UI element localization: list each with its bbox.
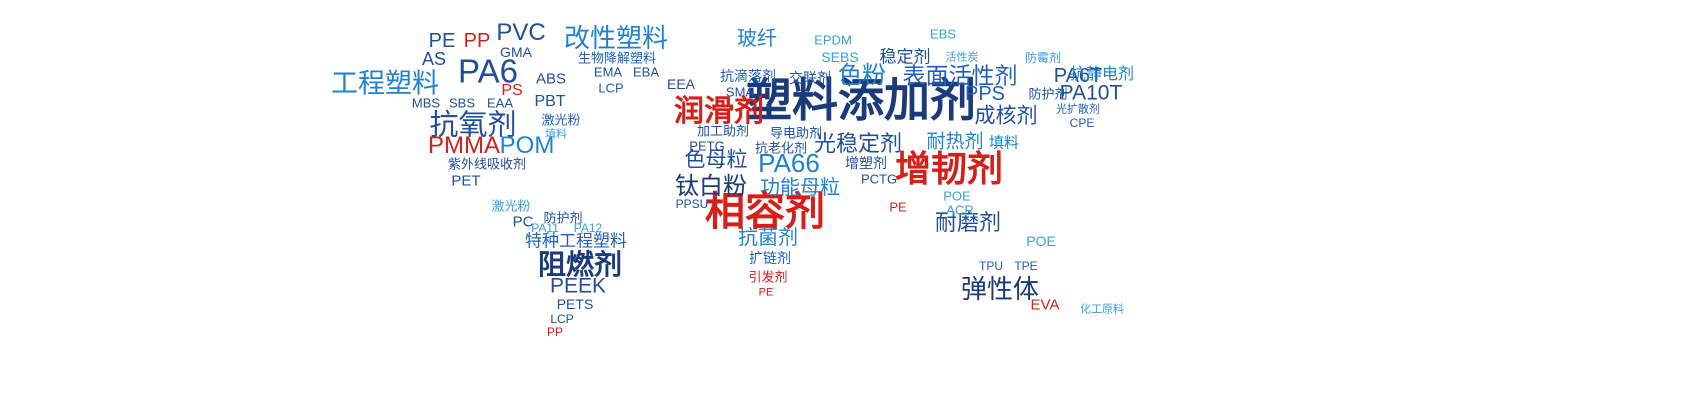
cloud-word[interactable]: POE	[1026, 234, 1056, 248]
cloud-word[interactable]: ABS	[536, 72, 566, 87]
cloud-word[interactable]: 填料	[545, 130, 567, 141]
cloud-word[interactable]: EBA	[633, 66, 659, 79]
cloud-word[interactable]: MBS	[412, 97, 440, 110]
cloud-word[interactable]: 成核剂	[975, 106, 1038, 127]
cloud-word[interactable]: PETS	[557, 297, 594, 311]
cloud-word[interactable]: PE	[889, 201, 906, 214]
cloud-word[interactable]: AS	[422, 50, 446, 68]
cloud-word[interactable]: ACR	[946, 204, 973, 217]
cloud-word[interactable]: 激光粉	[491, 200, 530, 213]
cloud-word[interactable]: PE	[759, 288, 774, 299]
cloud-word[interactable]: 紫外线吸收剂	[448, 158, 526, 171]
cloud-word[interactable]: 交联剂	[789, 71, 831, 85]
cloud-word[interactable]: 光稳定剂	[814, 133, 902, 155]
cloud-word[interactable]: 钛白粉	[675, 175, 747, 199]
cloud-word[interactable]: LCP	[550, 313, 573, 325]
cloud-word[interactable]: SEBS	[821, 50, 858, 64]
cloud-word[interactable]: EAA	[487, 97, 513, 110]
cloud-word[interactable]: PET	[451, 174, 480, 189]
cloud-word[interactable]: SBS	[449, 97, 475, 110]
cloud-word[interactable]: 改性塑料	[564, 25, 668, 51]
cloud-word[interactable]: PCTG	[861, 173, 897, 186]
cloud-word[interactable]: 特种工程塑料	[525, 233, 627, 250]
cloud-word[interactable]: 化工原料	[1080, 305, 1124, 316]
cloud-word[interactable]: 功能母粒	[760, 178, 840, 198]
cloud-word[interactable]: PA12	[574, 222, 602, 234]
cloud-word[interactable]: POE	[943, 190, 970, 203]
cloud-word[interactable]: LCP	[598, 82, 623, 95]
cloud-word[interactable]: TPE	[1014, 260, 1037, 272]
word-cloud-canvas: 塑料添加剂相容剂增韧剂润滑剂阻燃剂工程塑料抗氧剂PA6改性塑料表面活性剂光稳定剂…	[0, 0, 1707, 400]
cloud-word[interactable]: 抗菌剂	[738, 228, 798, 248]
cloud-word[interactable]: PVC	[496, 21, 545, 45]
cloud-word[interactable]: PPS	[965, 84, 1005, 104]
cloud-word[interactable]: 引发剂	[748, 271, 787, 284]
cloud-word[interactable]: PPSU	[676, 198, 709, 210]
cloud-word[interactable]: GMA	[500, 45, 532, 59]
cloud-word[interactable]: PP	[464, 31, 491, 51]
cloud-word[interactable]: 光扩散剂	[1056, 105, 1100, 116]
cloud-word[interactable]: 增塑剂	[845, 156, 887, 170]
cloud-word[interactable]: PBT	[534, 94, 565, 110]
cloud-word[interactable]: EBS	[930, 28, 956, 41]
cloud-word[interactable]: 工程塑料	[331, 71, 439, 98]
cloud-word[interactable]: 抗老化剂	[755, 142, 807, 155]
cloud-word[interactable]: 激光粉	[541, 114, 580, 127]
cloud-word[interactable]: 增韧剂	[895, 151, 1003, 187]
cloud-word[interactable]: 加工助剂	[697, 125, 749, 138]
cloud-word[interactable]: PP	[547, 326, 563, 338]
cloud-word[interactable]: 生物降解塑料	[578, 52, 656, 65]
cloud-word[interactable]: EPDM	[814, 34, 852, 47]
cloud-word[interactable]: 抗静电剂	[1070, 67, 1134, 83]
cloud-word[interactable]: PEEK	[550, 276, 606, 297]
cloud-word[interactable]: 弹性体	[961, 276, 1039, 302]
cloud-word[interactable]: PMMA	[428, 134, 500, 158]
cloud-word[interactable]: PA11	[531, 222, 559, 234]
cloud-word[interactable]: 防霉剂	[1025, 52, 1061, 64]
cloud-word[interactable]: 抗滴落剂	[720, 69, 776, 83]
cloud-word[interactable]: 防护剂	[1028, 88, 1067, 101]
cloud-word[interactable]: 润滑剂	[674, 97, 764, 127]
cloud-word[interactable]: 耐热剂	[926, 133, 983, 152]
cloud-word[interactable]: 扩链剂	[749, 251, 791, 265]
cloud-word[interactable]: SMA	[726, 86, 754, 99]
cloud-word[interactable]: PETG	[689, 140, 724, 153]
cloud-word[interactable]: 稳定剂	[880, 49, 931, 66]
cloud-word[interactable]: CPE	[1070, 117, 1095, 129]
cloud-word[interactable]: PE	[429, 31, 456, 51]
cloud-word[interactable]: 玻纤	[737, 29, 777, 49]
cloud-word[interactable]: EMA	[594, 66, 622, 79]
cloud-word[interactable]: 色粉	[838, 64, 886, 88]
cloud-word[interactable]: 活性炭	[946, 53, 979, 64]
cloud-word[interactable]: TPU	[979, 260, 1003, 272]
cloud-word[interactable]: 导电助剂	[770, 127, 822, 140]
cloud-word[interactable]: EVA	[1031, 298, 1060, 313]
cloud-word[interactable]: 填料	[989, 136, 1019, 151]
cloud-word[interactable]: EEA	[667, 77, 695, 91]
